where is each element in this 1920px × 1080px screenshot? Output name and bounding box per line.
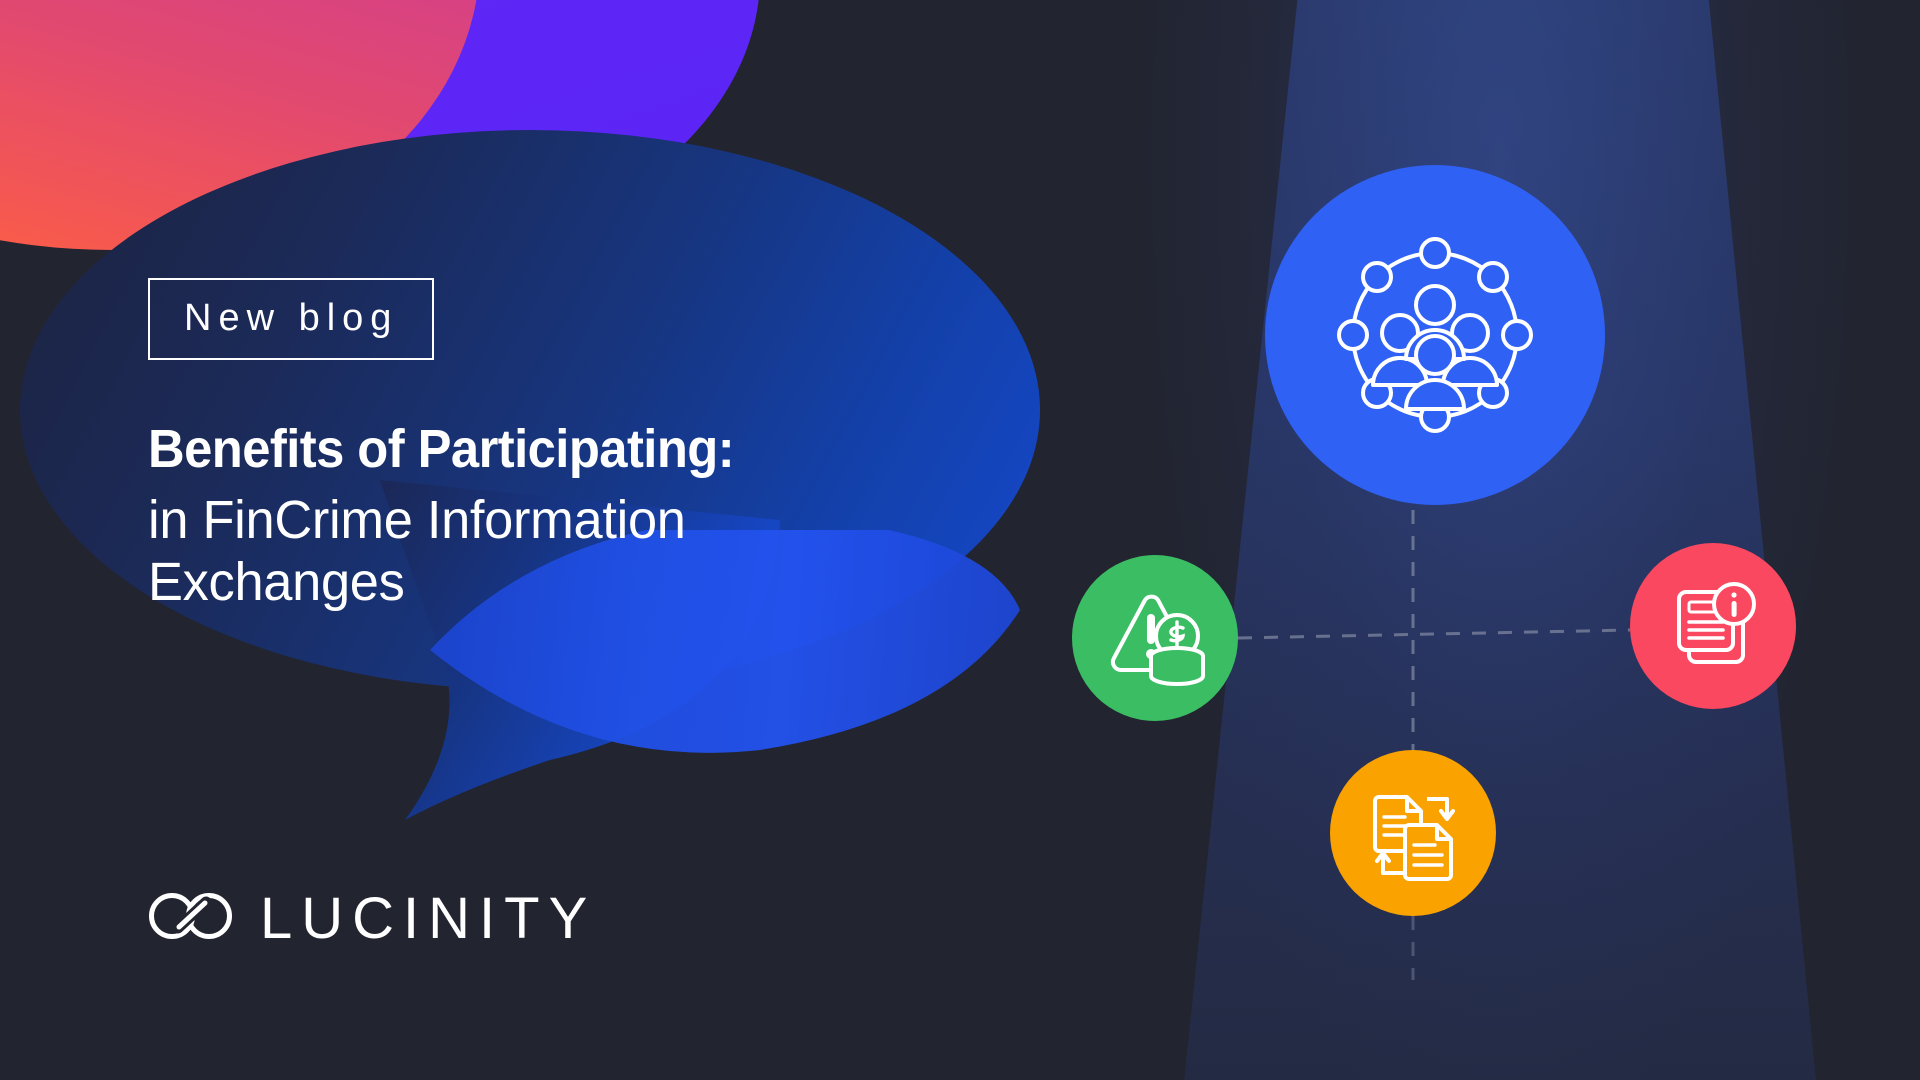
page-subtitle: in FinCrime Information Exchanges: [148, 489, 943, 614]
infinity-linked-circles-logo-icon: [148, 888, 234, 949]
document-exchange-icon: [1357, 777, 1469, 889]
icon-node-document-exchange[interactable]: [1330, 750, 1496, 916]
brand-logo: LUCINITY: [148, 888, 596, 949]
headline-block: New blog Benefits of Participating: in F…: [148, 278, 968, 614]
brand-logo-text: LUCINITY: [260, 890, 596, 948]
icon-node-risk-alert-money[interactable]: [1072, 555, 1238, 721]
new-blog-badge: New blog: [148, 278, 434, 360]
network-people-icon: [1325, 225, 1545, 445]
page-title: Benefits of Participating:: [148, 418, 919, 481]
icon-cluster: [1050, 150, 1870, 980]
page-subtitle-line-1: in FinCrime Information: [148, 489, 943, 552]
icon-node-network-people[interactable]: [1265, 165, 1605, 505]
page-subtitle-line-2: Exchanges: [148, 551, 943, 614]
warning-money-icon: [1101, 584, 1209, 692]
document-info-icon: [1659, 572, 1767, 680]
blog-promo-banner: New blog Benefits of Participating: in F…: [0, 0, 1920, 1080]
icon-node-report-information[interactable]: [1630, 543, 1796, 709]
